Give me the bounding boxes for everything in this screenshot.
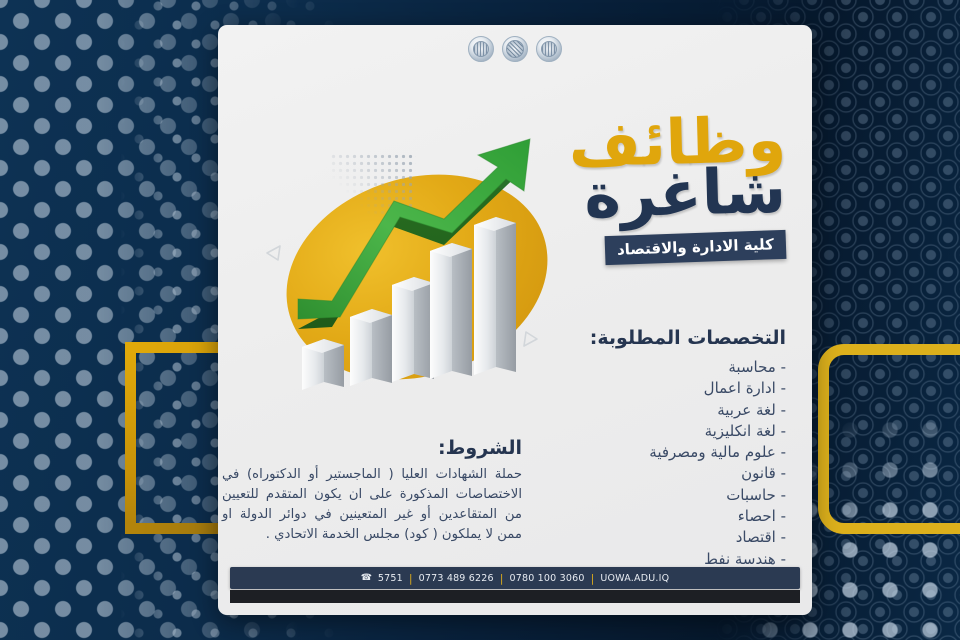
list-item: - قانون [486,463,786,484]
footer-phone-short: 5751 [378,573,403,584]
footer-dark-strip [230,590,800,603]
ministry-seal-center-icon [502,36,528,62]
poster-card: وظائف شاغرة كلية الادارة والاقتصاد [218,25,812,615]
list-item: - محاسبة [486,357,786,378]
list-item: - لغة انكليزية [486,421,786,442]
footer-phone-1: 0773 489 6226 [419,573,494,584]
contact-footer-bar: ☎ 5751 | 0773 489 6226 | 0780 100 3060 |… [230,567,800,589]
footer-separator: | [500,572,504,585]
list-item: - علوم مالية ومصرفية [486,442,786,463]
conditions-body: حملة الشهادات العليا ( الماجستير أو الدك… [222,465,522,545]
specializations-list: - محاسبة - ادارة اعمال - لغة عربية - لغة… [486,357,786,591]
footer-separator: | [591,572,595,585]
list-item: - احصاء [486,506,786,527]
university-seal-right-icon [536,36,562,62]
conditions-section: الشروط: حملة الشهادات العليا ( الماجستير… [222,437,522,545]
footer-separator: | [409,572,413,585]
conditions-heading: الشروط: [222,437,522,459]
specializations-heading: التخصصات المطلوبة: [486,327,786,349]
phone-icon: ☎ [361,573,372,583]
ministry-seal-left-icon [468,36,494,62]
triangle-decoration-left-icon [264,243,284,263]
footer-phone-2: 0780 100 3060 [509,573,584,584]
list-item: - اقتصاد [486,527,786,548]
list-item: - حاسبات [486,485,786,506]
list-item: - ادارة اعمال [486,378,786,399]
list-item: - لغة عربية [486,400,786,421]
college-badge: كلية الادارة والاقتصاد [605,229,787,264]
specializations-section: التخصصات المطلوبة: - محاسبة - ادارة اعما… [486,327,786,591]
footer-website: UOWA.ADU.IQ [600,573,669,584]
logo-row [218,36,812,62]
gold-frame-right [818,344,960,534]
